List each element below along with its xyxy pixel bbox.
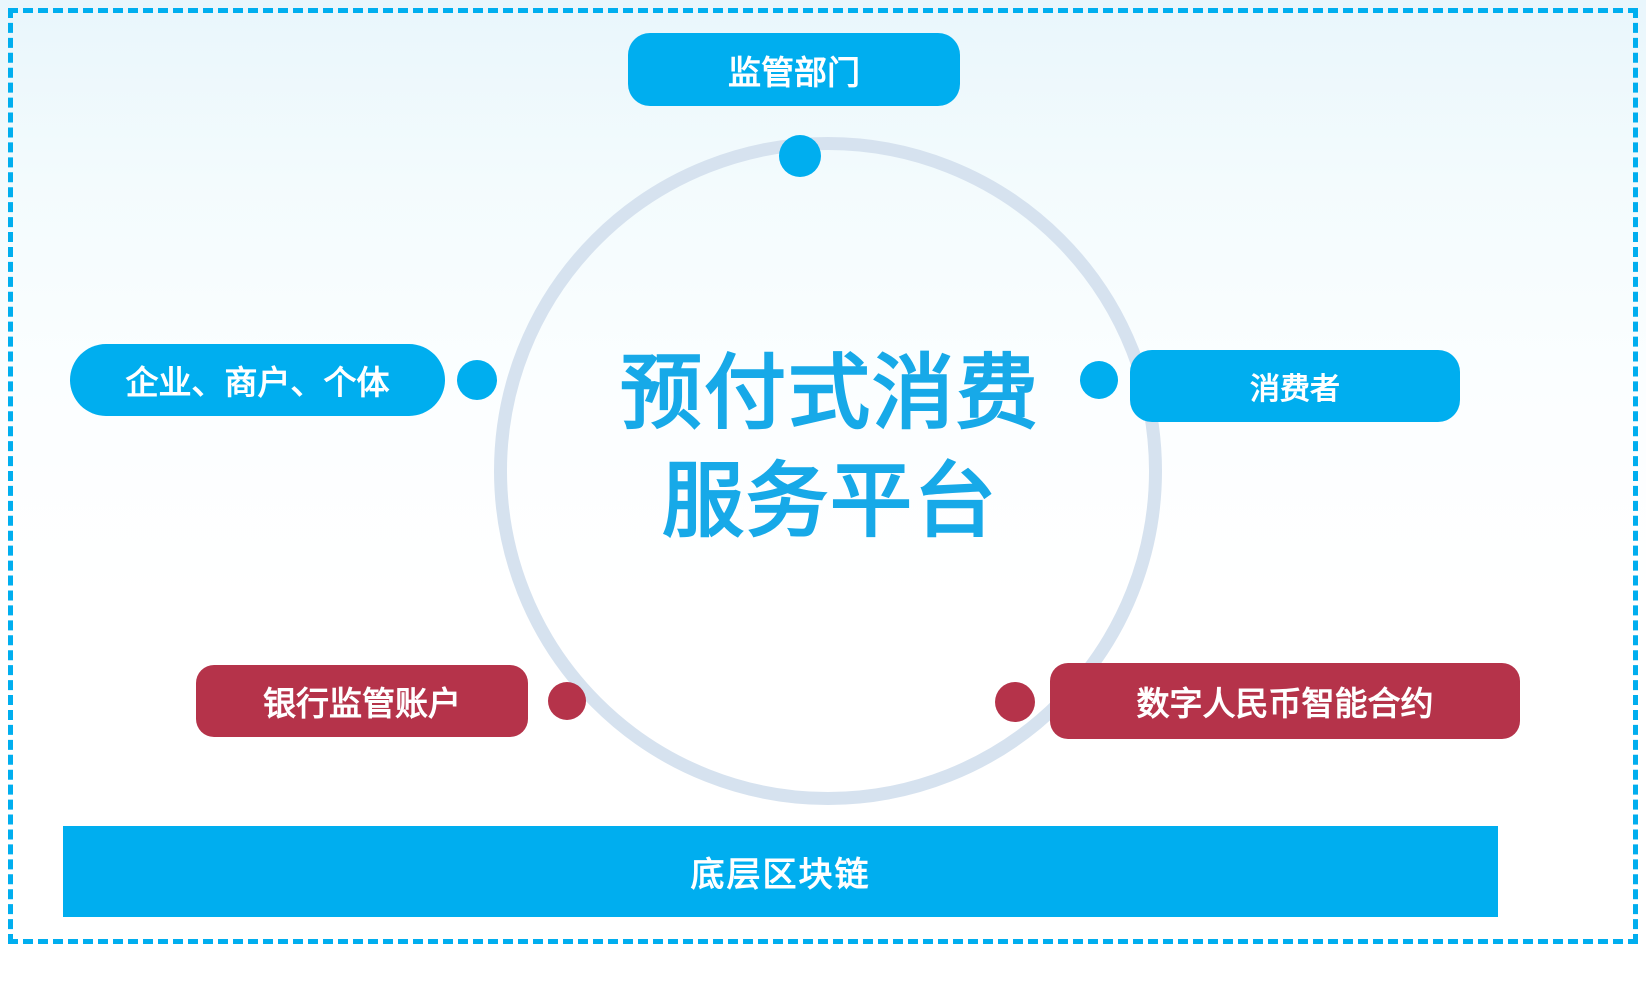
foundation-layer-bar[interactable]: 底层区块链 [63,826,1498,917]
node-label-digital-rmb-contract-text: 数字人民币智能合约 [1137,677,1434,725]
node-label-enterprises-text: 企业、商户、个体 [126,356,390,404]
center-title-line-1: 预付式消费 [560,340,1100,448]
node-label-consumer[interactable]: 消费者 [1130,350,1460,422]
diagram-canvas: 预付式消费 服务平台 监管部门 企业、商户、个体 消费者 银行监管账户 数字人民… [0,0,1646,1000]
node-label-enterprises[interactable]: 企业、商户、个体 [70,344,445,416]
center-title-line-2: 服务平台 [560,448,1100,556]
node-label-bank-account-text: 银行监管账户 [263,677,461,725]
node-label-regulator-text: 监管部门 [728,46,860,94]
node-dot-regulator-icon [779,135,821,177]
platform-center-title: 预付式消费 服务平台 [560,340,1100,556]
foundation-layer-label: 底层区块链 [691,847,871,896]
node-dot-bank-account-icon [548,682,586,720]
node-dot-enterprises-icon [457,360,497,400]
node-label-regulator[interactable]: 监管部门 [628,33,960,106]
node-label-digital-rmb-contract[interactable]: 数字人民币智能合约 [1050,663,1520,739]
node-label-bank-account[interactable]: 银行监管账户 [196,665,528,737]
node-dot-digital-rmb-contract-icon [995,682,1035,722]
node-dot-consumer-icon [1080,361,1118,399]
node-label-consumer-text: 消费者 [1250,364,1340,408]
